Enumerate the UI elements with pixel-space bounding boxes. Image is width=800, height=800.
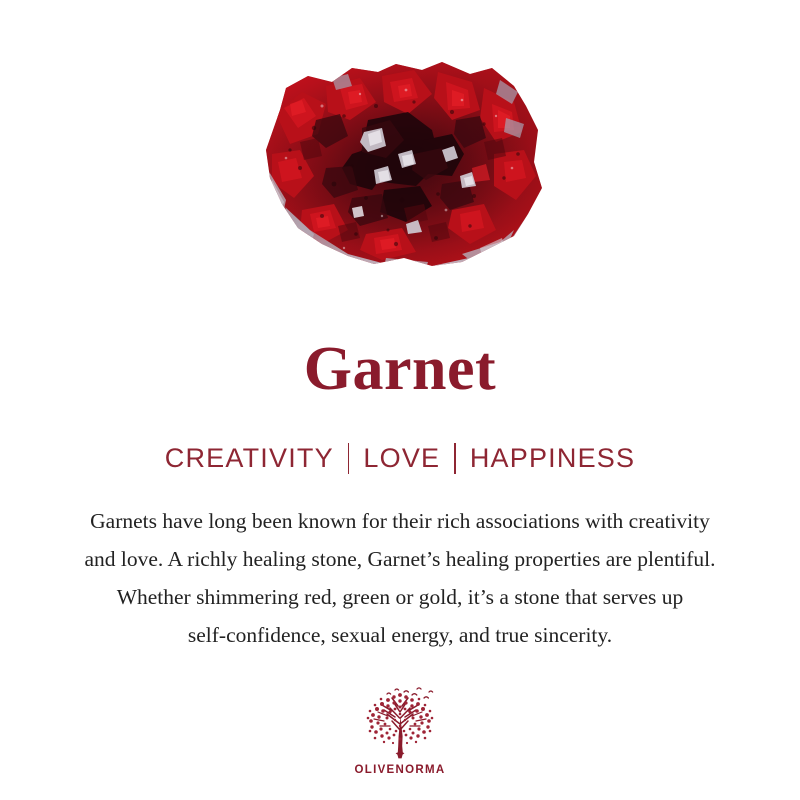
keyword-love: LOVE [363, 442, 440, 474]
keyword-list: CREATIVITYLOVEHAPPINESS [0, 442, 800, 474]
keyword-separator-icon [348, 443, 350, 474]
garnet-stone-illustration [256, 58, 544, 270]
description-line: self-confidence, sexual energy, and true… [22, 616, 778, 654]
brand-logo[interactable]: OLIVENORMA [0, 686, 800, 776]
keyword-separator-icon [454, 443, 456, 474]
description-line: Garnets have long been known for their r… [22, 502, 778, 540]
brand-name: OLIVENORMA [355, 764, 446, 776]
page-title: Garnet [0, 337, 800, 402]
tree-of-life-icon [354, 686, 446, 760]
keyword-happiness: HAPPINESS [470, 442, 635, 474]
garnet-info-card: Garnet CREATIVITYLOVEHAPPINESS Garnets h… [0, 0, 800, 800]
garnet-stone-image [256, 58, 544, 270]
description-text: Garnets have long been known for their r… [22, 502, 778, 654]
description-line: and love. A richly healing stone, Garnet… [22, 540, 778, 578]
keyword-creativity: CREATIVITY [165, 442, 334, 474]
description-line: Whether shimmering red, green or gold, i… [22, 578, 778, 616]
